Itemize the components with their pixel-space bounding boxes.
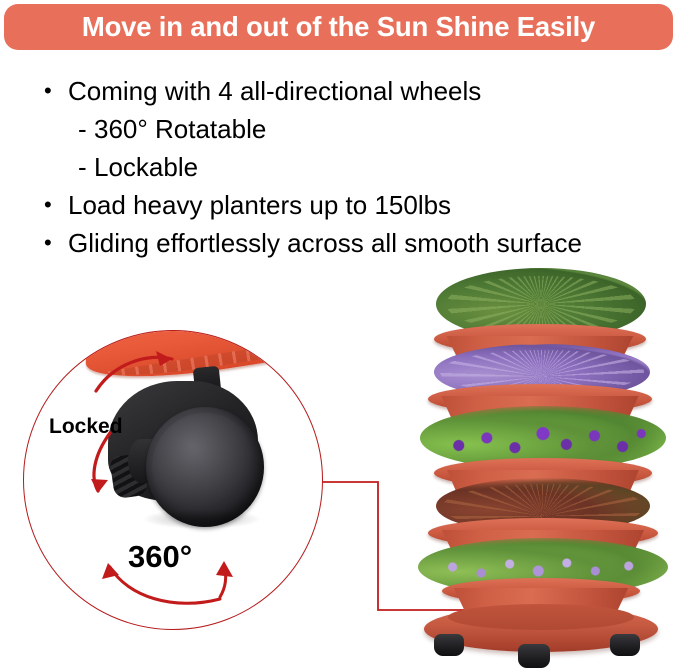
caster-wheel-right bbox=[610, 634, 640, 656]
page-title: Move in and out of the Sun Shine Easily bbox=[82, 13, 595, 41]
caster-detail-callout: Locked 360° bbox=[23, 330, 323, 630]
list-item-label: 360° Rotatable bbox=[94, 110, 266, 148]
feature-list: • Coming with 4 all-directional wheels -… bbox=[44, 72, 674, 262]
list-item-label: Load heavy planters up to 150lbs bbox=[68, 186, 451, 224]
list-item: - Lockable bbox=[44, 148, 674, 186]
locked-down-arrow-head bbox=[91, 479, 108, 493]
dash-bullet-icon: - bbox=[78, 110, 94, 148]
bullet-point-icon: • bbox=[44, 186, 68, 224]
product-image-planter-tower bbox=[418, 266, 679, 654]
list-item-label: Gliding effortlessly across all smooth s… bbox=[68, 224, 582, 262]
list-item-label: Coming with 4 all-directional wheels bbox=[68, 72, 481, 110]
bullet-point-icon: • bbox=[44, 224, 68, 262]
locked-up-arrow-head bbox=[156, 351, 172, 366]
bullet-point-icon: • bbox=[44, 72, 68, 110]
caster-base-inner-ring bbox=[448, 604, 634, 630]
list-item: • Load heavy planters up to 150lbs bbox=[44, 186, 674, 224]
list-item: • Gliding effortlessly across all smooth… bbox=[44, 224, 674, 262]
caster-wheel-left bbox=[434, 634, 464, 656]
list-item: • Coming with 4 all-directional wheels bbox=[44, 72, 674, 110]
dash-bullet-icon: - bbox=[78, 148, 94, 186]
caster-wheel-center bbox=[518, 644, 550, 668]
list-item-label: Lockable bbox=[94, 148, 198, 186]
callout-circle-outline: Locked 360° bbox=[23, 330, 323, 630]
callout-arrows bbox=[24, 331, 323, 630]
header-banner: Move in and out of the Sun Shine Easily bbox=[4, 4, 673, 50]
locked-label: Locked bbox=[49, 415, 123, 439]
rotation-degrees-label: 360° bbox=[128, 539, 192, 575]
list-item: - 360° Rotatable bbox=[44, 110, 674, 148]
